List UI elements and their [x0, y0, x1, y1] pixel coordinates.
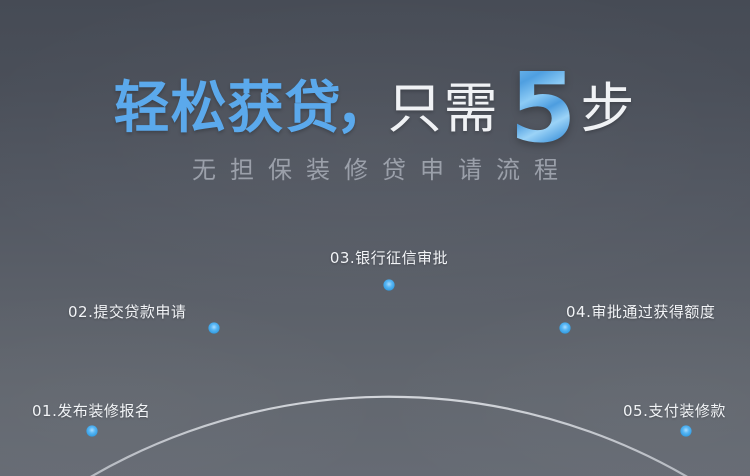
flow-step-dot-04[interactable] [559, 322, 570, 333]
headline-thin-mid: 只需 [388, 77, 500, 140]
headline-bold-lead: 轻松获贷 [114, 76, 342, 141]
flow-arc-line [20, 397, 750, 476]
flow-step-dot-03[interactable] [383, 279, 394, 290]
flow-step-dot-02[interactable] [208, 322, 219, 333]
flow-step-label-02: 02.提交贷款申请 [68, 305, 186, 320]
headline: 轻松获贷，只需5步 [0, 60, 750, 156]
headline-step-count: 5 [510, 60, 577, 156]
flow-step-label-01: 01.发布装修报名 [32, 404, 150, 419]
headline-thin-tail: 步 [580, 77, 636, 140]
flow-step-dot-05[interactable] [680, 425, 691, 436]
headline-comma: ， [336, 76, 392, 141]
flow-step-label-05: 05.支付装修款 [623, 404, 726, 419]
flow-step-label-03: 03.银行征信审批 [330, 251, 448, 266]
flow-step-dot-01[interactable] [86, 425, 97, 436]
flow-step-label-04: 04.审批通过获得额度 [566, 305, 715, 320]
subtitle: 无担保装修贷申请流程 [0, 158, 750, 182]
flow-dot-layer [86, 279, 691, 436]
promo-banner: 轻松获贷，只需5步 无担保装修贷申请流程 01.发布装修报名02. [0, 0, 750, 476]
